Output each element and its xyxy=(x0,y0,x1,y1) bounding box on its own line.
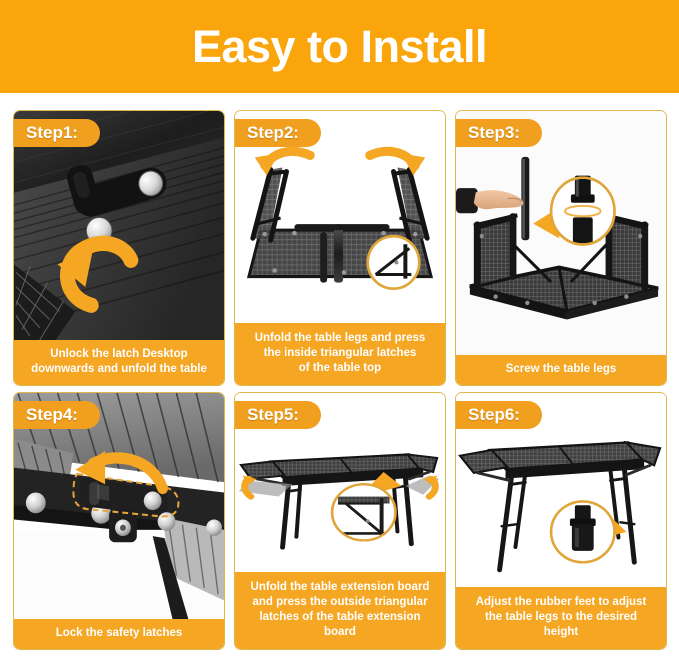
header-banner: Easy to Install xyxy=(0,0,679,93)
step-4-badge: Step4: xyxy=(14,401,100,429)
step-3-photo xyxy=(456,111,666,355)
step-card-2: Step2: Unfold the table legs and press t… xyxy=(234,110,446,386)
infographic-page: Easy to Install xyxy=(0,0,679,660)
step-2-badge: Step2: xyxy=(235,119,321,147)
step-2-caption-line-2: the inside triangular latches xyxy=(243,346,437,361)
step-6-badge: Step6: xyxy=(456,401,542,429)
circle-inset-detail xyxy=(368,236,420,288)
step-card-3: Step3: Screw the table legs xyxy=(455,110,667,386)
step-1-badge: Step1: xyxy=(14,119,100,147)
step-2-caption-line-3: of the table top xyxy=(243,361,437,376)
step-5-caption-line-1: Unfold the table extension board xyxy=(243,580,437,595)
step-6-caption-line-3: height xyxy=(464,625,658,640)
screw-table-legs-illustration xyxy=(456,111,666,355)
step-6-badge-label: Step6: xyxy=(468,405,520,425)
step-2-badge-label: Step2: xyxy=(247,123,299,143)
step-4-caption: Lock the safety latches xyxy=(14,619,224,649)
step-2-caption-line-1: Unfold the table legs and press xyxy=(243,331,437,346)
steps-grid: Step1: Unlock the latch Desktop downward… xyxy=(13,110,666,650)
step-5-badge: Step5: xyxy=(235,401,321,429)
page-title: Easy to Install xyxy=(192,24,487,69)
step-6-caption-line-2: the table legs to the desired xyxy=(464,610,658,625)
step-1-caption-line-1: Unlock the latch Desktop xyxy=(22,347,216,362)
step-card-4: Step4: Lock the safety latches xyxy=(13,392,225,650)
step-2-caption: Unfold the table legs and press the insi… xyxy=(235,323,445,385)
step-3-caption: Screw the table legs xyxy=(456,355,666,385)
step-card-5: Step5: Unfold the table extension board … xyxy=(234,392,446,650)
step-5-badge-label: Step5: xyxy=(247,405,299,425)
step-1-badge-label: Step1: xyxy=(26,123,78,143)
step-6-caption-line-1: Adjust the rubber feet to adjust xyxy=(464,595,658,610)
step-card-1: Step1: Unlock the latch Desktop downward… xyxy=(13,110,225,386)
step-3-caption-line-1: Screw the table legs xyxy=(464,362,658,377)
step-3-badge-label: Step3: xyxy=(468,123,520,143)
step-1-caption-line-2: downwards and unfold the table xyxy=(22,362,216,377)
step-card-6: Step6: Adjust the rubber feet to adjust … xyxy=(455,392,667,650)
step-4-caption-line-1: Lock the safety latches xyxy=(22,626,216,641)
step-5-caption-line-2: and press the outside triangular xyxy=(243,595,437,610)
step-4-badge-label: Step4: xyxy=(26,405,78,425)
step-3-badge: Step3: xyxy=(456,119,542,147)
step-5-caption-line-3: latches of the table extension board xyxy=(243,610,437,640)
step-6-caption: Adjust the rubber feet to adjust the tab… xyxy=(456,587,666,649)
step-1-caption: Unlock the latch Desktop downwards and u… xyxy=(14,340,224,385)
step-5-caption: Unfold the table extension board and pre… xyxy=(235,572,445,649)
